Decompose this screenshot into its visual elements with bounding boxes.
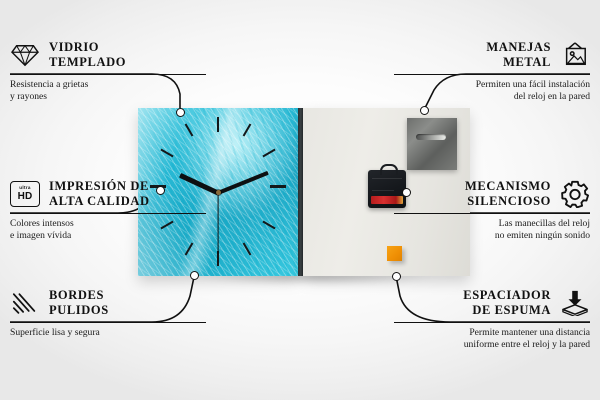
feature-description: Permiten una fácil instalación del reloj… xyxy=(394,79,590,103)
feature-divider xyxy=(10,74,206,75)
feature-title: MECANISMO SILENCIOSO xyxy=(394,179,551,209)
feature-header: ESPACIADOR DE ESPUMA xyxy=(394,288,590,318)
feature-title: IMPRESIÓN DE ALTA CALIDAD xyxy=(49,179,206,209)
feature-vidrio-templado: VIDRIO TEMPLADO Resistencia a grietas y … xyxy=(10,40,206,104)
callout-dot-espaciador[interactable] xyxy=(392,272,401,281)
feature-description: Resistencia a grietas y rayones xyxy=(10,79,206,103)
hanger-keyhole-slot xyxy=(416,134,446,140)
gear-icon xyxy=(560,179,590,209)
feature-impresion-alta-calidad: ultra HD IMPRESIÓN DE ALTA CALIDAD Color… xyxy=(10,179,206,243)
polished-edges-icon xyxy=(10,288,40,318)
mechanism-seam xyxy=(372,190,394,191)
feature-description: Las manecillas del reloj no emiten ningú… xyxy=(394,218,590,242)
ultra-hd-main-label: HD xyxy=(18,192,33,202)
feature-title: VIDRIO TEMPLADO xyxy=(49,40,206,70)
feature-description: Superficie lisa y segura xyxy=(10,327,206,339)
feature-header: BORDES PULIDOS xyxy=(10,288,206,318)
clock-second-hand xyxy=(217,193,218,255)
feature-description: Permite mantener una distancia uniforme … xyxy=(394,327,590,351)
feature-header: ultra HD IMPRESIÓN DE ALTA CALIDAD xyxy=(10,179,206,209)
mechanism-hanging-loop xyxy=(380,164,398,175)
feature-header: MANEJAS METAL xyxy=(394,40,590,70)
wall-frame-hanger-icon xyxy=(560,40,590,70)
feature-divider xyxy=(10,213,206,214)
feature-divider xyxy=(394,74,590,75)
infographic-canvas: VIDRIO TEMPLADO Resistencia a grietas y … xyxy=(0,0,600,400)
clock-center-pin xyxy=(216,190,221,195)
callout-dot-bordes[interactable] xyxy=(190,271,199,280)
feature-title: ESPACIADOR DE ESPUMA xyxy=(394,288,551,318)
ultra-hd-box: ultra HD xyxy=(10,181,40,207)
feature-description: Colores intensos e imagen vívida xyxy=(10,218,206,242)
feature-divider xyxy=(394,322,590,323)
feature-header: VIDRIO TEMPLADO xyxy=(10,40,206,70)
feature-header: MECANISMO SILENCIOSO xyxy=(394,179,590,209)
callout-dot-vidrio-templado[interactable] xyxy=(176,108,185,117)
feature-divider xyxy=(10,322,206,323)
foam-spacer xyxy=(387,246,402,261)
clock-tick xyxy=(217,117,219,132)
feature-title: BORDES PULIDOS xyxy=(49,288,206,318)
hanger-plate xyxy=(407,118,457,170)
diamond-icon xyxy=(10,40,40,70)
feature-divider xyxy=(394,213,590,214)
feature-espaciador-de-espuma: ESPACIADOR DE ESPUMA Permite mantener un… xyxy=(394,288,590,352)
clock-tick xyxy=(270,185,286,188)
ultra-hd-icon: ultra HD xyxy=(10,179,40,209)
feature-title: MANEJAS METAL xyxy=(394,40,551,70)
feature-mecanismo-silencioso: MECANISMO SILENCIOSO Las manecillas del … xyxy=(394,179,590,243)
foam-spacer-arrow-icon xyxy=(560,288,590,318)
feature-bordes-pulidos: BORDES PULIDOS Superficie lisa y segura xyxy=(10,288,206,339)
feature-manejas-metal: MANEJAS METAL Permiten una fácil instala… xyxy=(394,40,590,104)
callout-dot-manejas[interactable] xyxy=(420,106,429,115)
